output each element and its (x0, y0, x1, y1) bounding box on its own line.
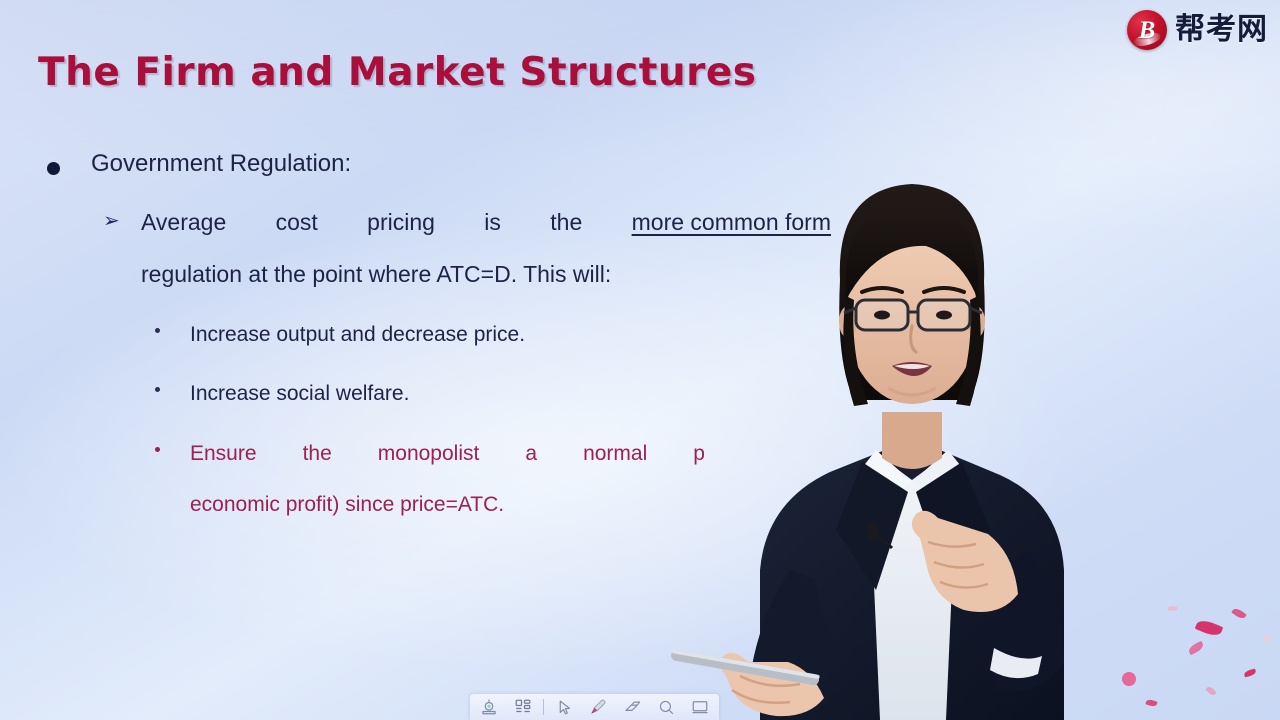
page-title: The Firm and Market Structures (38, 50, 757, 95)
word: a (525, 438, 537, 470)
toolbar-separator (543, 699, 544, 715)
badge-letter: B (1127, 10, 1167, 50)
screen-icon[interactable] (683, 695, 717, 719)
arrow-bullet-icon: ➢ (103, 206, 120, 236)
annotation-toolbar[interactable] (470, 694, 719, 720)
word: cost (276, 205, 318, 239)
logo-wordmark: 帮考网 (1175, 15, 1268, 45)
petal-decoration (1168, 605, 1178, 611)
eraser-icon[interactable] (615, 695, 649, 719)
word: is (484, 205, 501, 239)
bullet-level3-line1: Ensure the monopolist a normal p (190, 438, 705, 470)
petal-decoration (1261, 634, 1271, 644)
pen-marker-icon[interactable] (581, 695, 615, 719)
petal-decoration (1187, 641, 1205, 656)
cursor-arrow-icon[interactable] (547, 695, 581, 719)
word: pricing (367, 205, 435, 239)
laser-pointer-icon[interactable] (472, 695, 506, 719)
petal-decoration (1243, 669, 1256, 678)
bangkao-badge-icon: B (1127, 10, 1167, 50)
site-logo[interactable]: B 帮考网 (1127, 10, 1268, 50)
word: Ensure (190, 438, 257, 470)
grid-layout-icon[interactable] (506, 695, 540, 719)
word: the (303, 438, 332, 470)
small-dot-bullet-icon (155, 328, 160, 333)
word: the (550, 205, 582, 239)
petal-decoration (1231, 607, 1246, 621)
small-dot-bullet-icon (155, 387, 160, 392)
magnifier-icon[interactable] (649, 695, 683, 719)
word: monopolist (378, 438, 480, 470)
small-dot-bullet-icon (155, 447, 160, 452)
bullet-level1-label: Government Regulation: (91, 150, 351, 179)
petal-decoration (1205, 685, 1216, 696)
petal-decoration (1195, 618, 1224, 639)
presenter-video-overlay (640, 150, 1160, 720)
disc-bullet-icon (47, 162, 60, 175)
word: normal (583, 438, 647, 470)
word: Average (141, 205, 226, 239)
slide-stage: The Firm and Market Structures Governmen… (0, 0, 1280, 720)
